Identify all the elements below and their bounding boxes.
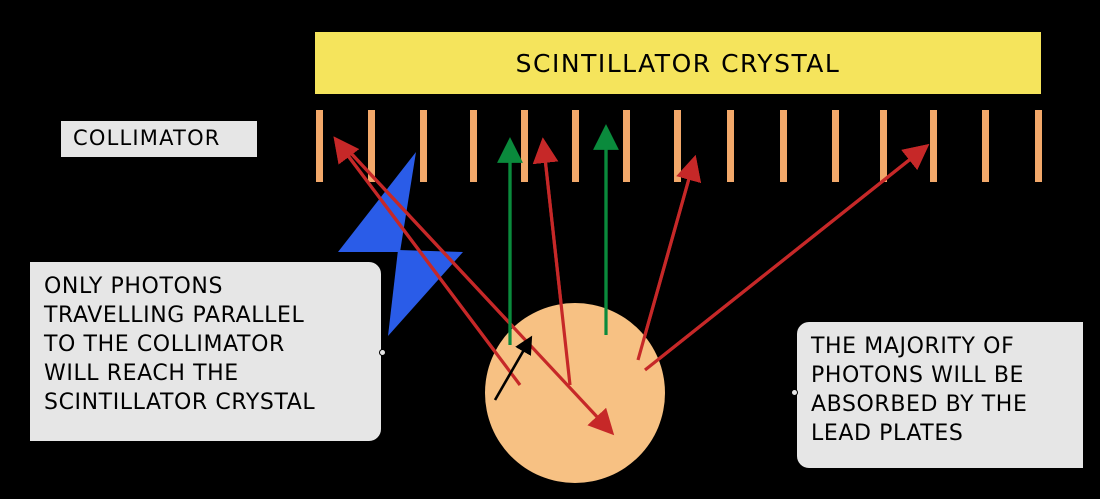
callout-right-connector-dot bbox=[791, 389, 798, 396]
scintillator-crystal: SCINTILLATOR CRYSTAL bbox=[313, 30, 1043, 96]
collimator-label: COLLIMATOR bbox=[60, 120, 258, 158]
collimator-plate-1 bbox=[316, 110, 323, 182]
photon-absorbed-over-3 bbox=[638, 175, 690, 360]
collimator-plate-3 bbox=[420, 110, 427, 182]
scintillator-crystal-label: SCINTILLATOR CRYSTAL bbox=[516, 49, 841, 78]
collimator-plate-9 bbox=[727, 110, 734, 182]
collimator-plate-6 bbox=[572, 110, 579, 182]
diagram-canvas: SCINTILLATOR CRYSTAL COLLIMATOR ONLY PHO… bbox=[0, 0, 1100, 499]
collimator-plate-11 bbox=[832, 110, 839, 182]
collimator-plate-12 bbox=[880, 110, 887, 182]
collimator-plate-5 bbox=[521, 110, 528, 182]
collimator-plate-13 bbox=[930, 110, 937, 182]
callout-left-connector-dot bbox=[379, 349, 386, 356]
collimator-plates bbox=[316, 110, 1042, 182]
collimator-plate-7 bbox=[623, 110, 630, 182]
collimator-plate-15 bbox=[1035, 110, 1042, 182]
callout-only-photons-parallel: ONLY PHOTONS TRAVELLING PARALLEL TO THE … bbox=[28, 260, 383, 443]
photon-absorbed-over-5 bbox=[348, 150, 600, 420]
collimator-plate-10 bbox=[780, 110, 787, 182]
collimator-plate-14 bbox=[982, 110, 989, 182]
collimator-plate-4 bbox=[470, 110, 477, 182]
callout-majority-absorbed: THE MAJORITY OF PHOTONS WILL BE ABSORBED… bbox=[795, 320, 1085, 470]
collimator-plate-8 bbox=[674, 110, 681, 182]
